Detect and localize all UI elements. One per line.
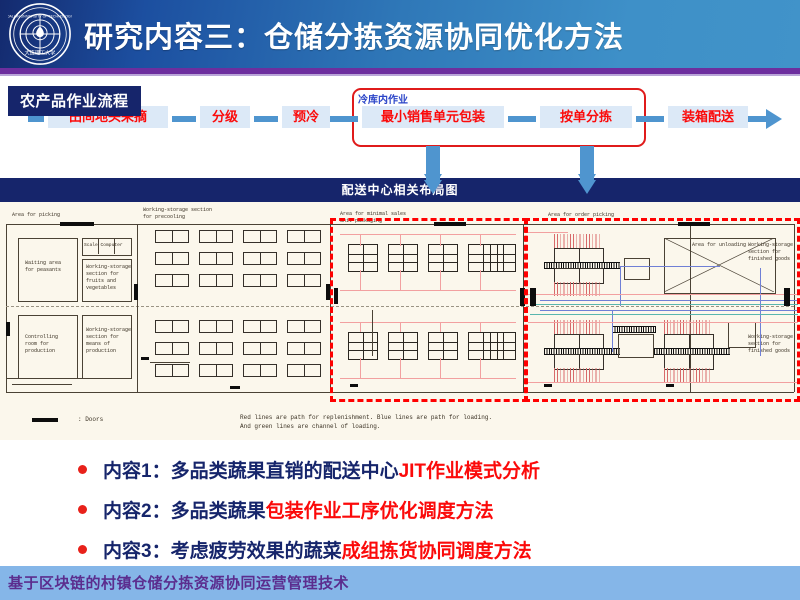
label-area-for-picking: Area for picking bbox=[12, 212, 60, 219]
bullet-item-2: 内容2：多品类蔬果包装作业工序优化调度方法 bbox=[78, 493, 494, 525]
precool-cell bbox=[199, 364, 233, 377]
zone-divider-1 bbox=[137, 224, 138, 392]
down-arrow-packaging-lower-icon bbox=[424, 146, 442, 194]
label-waiting-area: Waiting area for peasants bbox=[25, 260, 61, 274]
precool-cell bbox=[243, 274, 277, 287]
bullet-1-highlight: JIT作业模式分析 bbox=[399, 461, 540, 482]
label-controlling-room: Controlling room for production bbox=[25, 334, 58, 355]
precool-cell bbox=[199, 252, 233, 265]
door-precooling bbox=[141, 357, 149, 360]
precool-cell bbox=[287, 320, 321, 333]
precool-cell bbox=[243, 364, 277, 377]
label-means-of-production: Working-storage section for means of pro… bbox=[86, 327, 131, 355]
precool-cell bbox=[243, 252, 277, 265]
bullet-2-prefix: 内容2：多品类蔬果 bbox=[103, 501, 266, 522]
flow-step-grading[interactable]: 分级 bbox=[200, 106, 250, 128]
precool-cell bbox=[243, 320, 277, 333]
bullet-2-highlight: 包装作业工序优化调度方法 bbox=[266, 501, 494, 522]
door-picking-left bbox=[6, 322, 10, 336]
legend-door-symbol bbox=[32, 418, 58, 422]
precool-cell bbox=[199, 230, 233, 243]
precool-cell bbox=[155, 230, 189, 243]
precool-cell bbox=[287, 342, 321, 355]
highlight-order-picking-zone bbox=[524, 218, 800, 402]
precool-cell bbox=[199, 342, 233, 355]
slide-header: DALIAN UNIVERSITY OF TECHNOLOGY 大连理工大学 研… bbox=[0, 0, 800, 68]
precool-cell bbox=[155, 342, 189, 355]
precool-cell bbox=[199, 320, 233, 333]
down-arrow-order-picking-lower-icon bbox=[578, 146, 596, 194]
label-precooling: Working-storage section for precooling bbox=[143, 207, 212, 221]
bullet-text-1: 内容1：多品类蔬果直销的配送中心JIT作业模式分析 bbox=[103, 456, 540, 483]
precool-cell bbox=[243, 230, 277, 243]
content-bullets: 内容1：多品类蔬果直销的配送中心JIT作业模式分析 内容2：多品类蔬果包装作业工… bbox=[0, 443, 800, 563]
bullet-3-highlight: 成组拣货协同调度方法 bbox=[342, 541, 532, 562]
precool-cell bbox=[287, 364, 321, 377]
precool-cell bbox=[199, 274, 233, 287]
precool-cell bbox=[243, 342, 277, 355]
precool-cell bbox=[155, 274, 189, 287]
flow-section-label: 农产品作业流程 bbox=[8, 86, 141, 116]
label-scale-computer: Scale Computer bbox=[84, 243, 123, 249]
flow-connector-2 bbox=[254, 116, 278, 122]
legend-lines-note: Red lines are path for replenishment. Bl… bbox=[240, 413, 492, 431]
bullet-dot-icon bbox=[78, 465, 87, 474]
door-picking-right bbox=[134, 284, 138, 300]
flow-connector-5 bbox=[636, 116, 664, 122]
university-logo-icon: DALIAN UNIVERSITY OF TECHNOLOGY 大连理工大学 bbox=[8, 2, 72, 66]
flow-step-order-picking[interactable]: 按单分拣 bbox=[540, 106, 632, 128]
svg-text:DALIAN UNIVERSITY OF TECHNOLOG: DALIAN UNIVERSITY OF TECHNOLOGY bbox=[8, 14, 72, 18]
precool-cell bbox=[155, 364, 189, 377]
flow-end-arrow-icon bbox=[766, 109, 782, 129]
diagram-canvas: Area for picking Waiting area for peasan… bbox=[0, 202, 800, 440]
precool-cell bbox=[287, 274, 321, 287]
footer-title: 基于区块链的村镇仓储分拣资源协同运营管理技术 bbox=[8, 572, 349, 593]
precool-cell bbox=[287, 252, 321, 265]
bullet-dot-icon bbox=[78, 505, 87, 514]
precool-rail bbox=[150, 362, 190, 363]
bullet-dot-icon bbox=[78, 545, 87, 554]
distribution-center-layout-diagram: 配送中心相关布局图 Area for picking Waiting area … bbox=[0, 178, 800, 440]
flow-step-boxing-delivery[interactable]: 装箱配送 bbox=[668, 106, 748, 128]
cold-storage-group-label: 冷库内作业 bbox=[358, 91, 408, 106]
svg-text:大连理工大学: 大连理工大学 bbox=[25, 49, 56, 56]
door-precooling-bottom bbox=[230, 386, 240, 389]
flow-step-minimal-unit-packaging[interactable]: 最小销售单元包装 bbox=[362, 106, 504, 128]
slide-footer: 基于区块链的村镇仓储分拣资源协同运营管理技术 bbox=[0, 566, 800, 600]
flow-connector-1 bbox=[172, 116, 196, 122]
precool-cell bbox=[287, 230, 321, 243]
picking-bottom-rail bbox=[6, 378, 130, 379]
precool-cell bbox=[155, 320, 189, 333]
diagram-title: 配送中心相关布局图 bbox=[0, 178, 800, 202]
bullet-text-2: 内容2：多品类蔬果包装作业工序优化调度方法 bbox=[103, 496, 494, 523]
flow-connector-0 bbox=[28, 116, 44, 122]
page-title: 研究内容三：仓储分拣资源协同优化方法 bbox=[84, 14, 624, 56]
flow-connector-6 bbox=[748, 116, 768, 122]
bullet-text-3: 内容3：考虑疲劳效果的蔬菜成组拣货协同调度方法 bbox=[103, 536, 532, 563]
bullet-1-prefix: 内容1：多品类蔬果直销的配送中心 bbox=[103, 461, 399, 482]
label-fruits-vegetables: Working-storage section for fruits and v… bbox=[86, 264, 131, 292]
precool-cell bbox=[155, 252, 189, 265]
header-divider-secondary bbox=[0, 74, 800, 76]
bullet-item-1: 内容1：多品类蔬果直销的配送中心JIT作业模式分析 bbox=[78, 453, 540, 485]
process-flow-section: 农产品作业流程 冷库内作业 田间地头采摘 分级 预冷 最小销售单元包装 按单分拣… bbox=[0, 78, 800, 178]
flow-connector-3 bbox=[330, 116, 358, 122]
slide-root: DALIAN UNIVERSITY OF TECHNOLOGY 大连理工大学 研… bbox=[0, 0, 800, 600]
frame-left bbox=[6, 224, 7, 392]
picking-bottom-rail-2 bbox=[12, 384, 72, 385]
flow-connector-4 bbox=[508, 116, 536, 122]
bullet-3-prefix: 内容3：考虑疲劳效果的蔬菜 bbox=[103, 541, 342, 562]
flow-step-precooling[interactable]: 预冷 bbox=[282, 106, 330, 128]
door-picking-top bbox=[60, 222, 94, 226]
bullet-item-3: 内容3：考虑疲劳效果的蔬菜成组拣货协同调度方法 bbox=[78, 533, 532, 565]
legend-door-label: : Doors bbox=[78, 415, 103, 424]
highlight-packaging-zone bbox=[330, 218, 528, 402]
